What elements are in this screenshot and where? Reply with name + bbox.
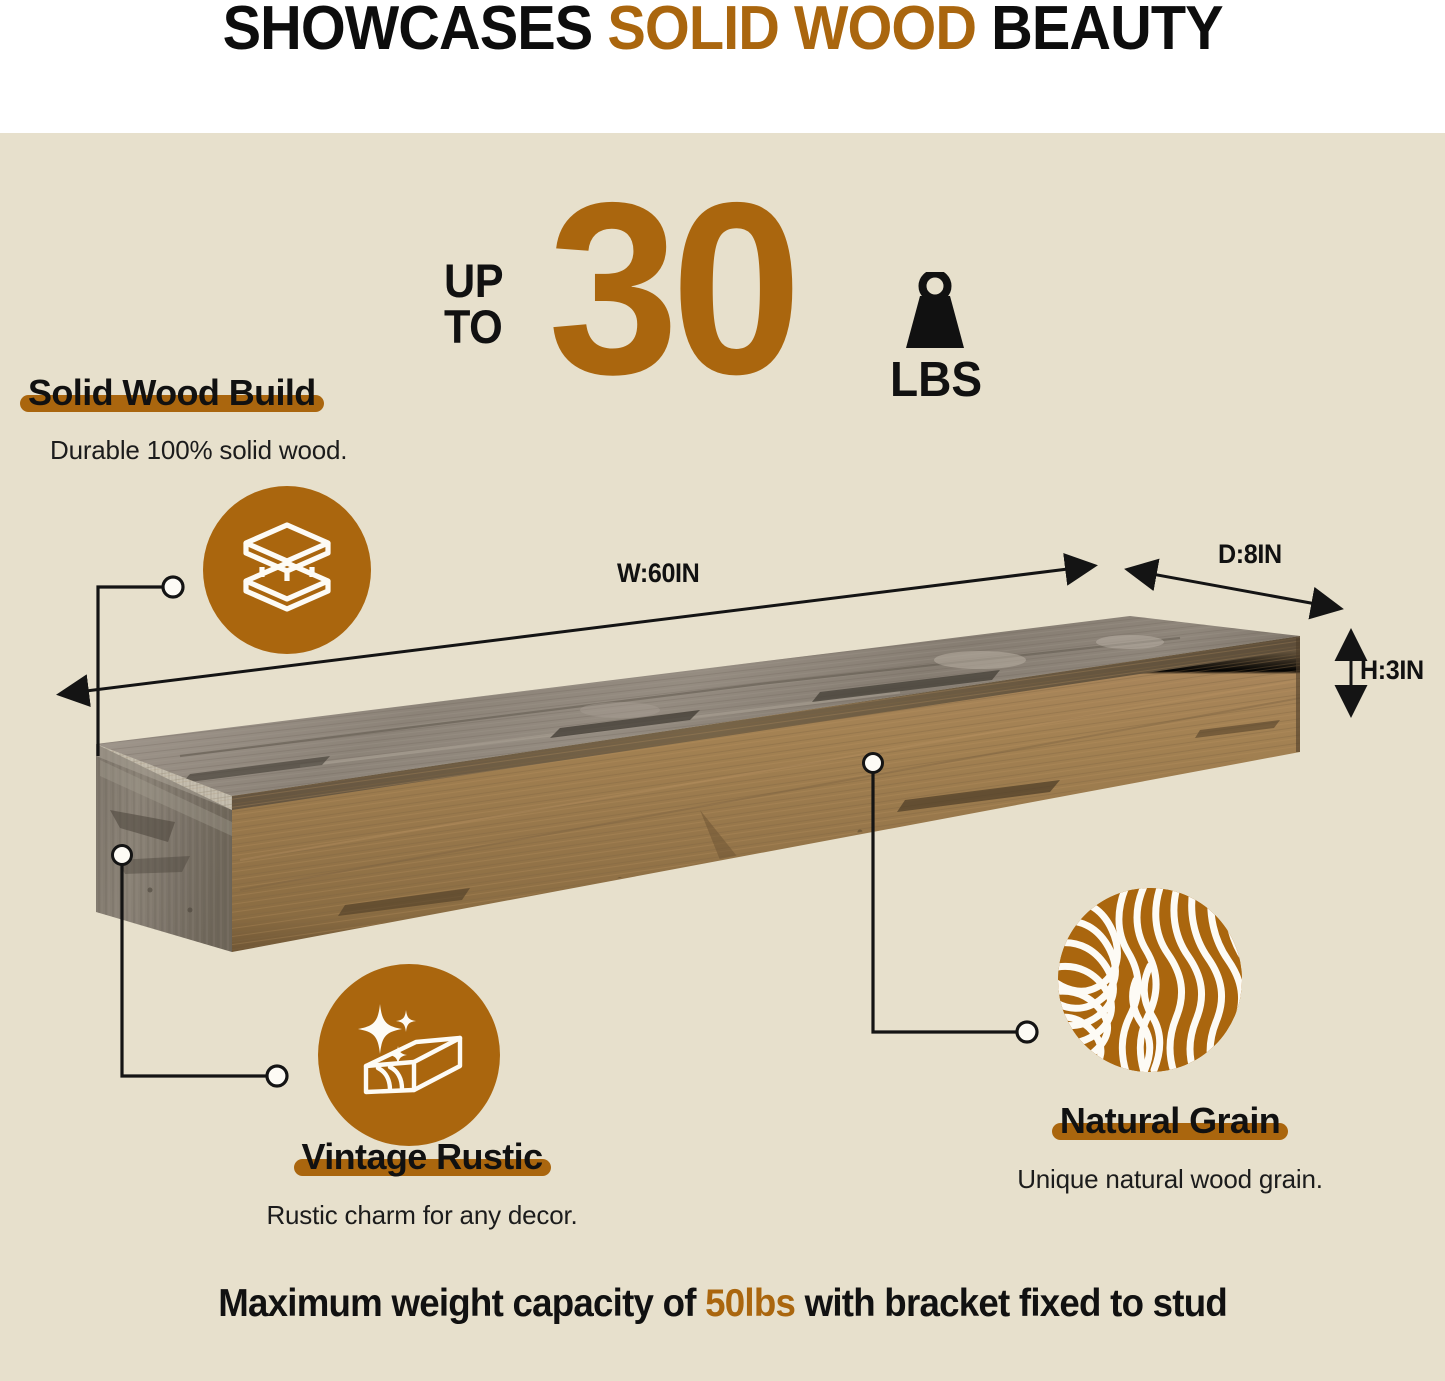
feature-subtitle: Durable 100% solid wood. <box>50 435 347 466</box>
wood-grain-icon <box>1058 888 1242 1072</box>
feature-title-wrap: Vintage Rustic <box>302 1136 543 1178</box>
weight-icon <box>898 272 972 356</box>
page-title: SHOWCASES SOLID WOOD BEAUTY <box>222 0 1222 61</box>
stacked-layers-icon <box>203 486 371 654</box>
feature-title: Natural Grain <box>1060 1100 1280 1142</box>
footer-caption: Maximum weight capacity of 50lbs with br… <box>0 1282 1445 1326</box>
weight-capacity-callout: UP TO 30 LBS <box>430 180 1030 400</box>
feature-subtitle: Rustic charm for any decor. <box>262 1200 582 1231</box>
feature-title-wrap: Solid Wood Build <box>28 372 316 414</box>
feature-title: Solid Wood Build <box>28 372 316 414</box>
dimension-label-height: H:3IN <box>1360 655 1424 686</box>
title-segment-2: BEAUTY <box>976 0 1223 63</box>
feature-title-wrap: Natural Grain <box>1060 1100 1280 1142</box>
feature-subtitle: Unique natural wood grain. <box>1010 1164 1330 1195</box>
capacity-unit-label: LBS <box>890 352 982 408</box>
dimension-label-width: W:60IN <box>617 558 699 589</box>
feature-solid-wood-build: Solid Wood Build Durable 100% solid wood… <box>28 372 347 466</box>
footer-prefix: Maximum weight capacity of <box>218 1282 705 1325</box>
up-label: UP <box>444 258 503 304</box>
title-segment-1: SHOWCASES <box>222 0 607 63</box>
footer-suffix: with bracket fixed to stud <box>795 1282 1227 1325</box>
feature-natural-grain: Natural Grain Unique natural wood grain. <box>1010 1100 1330 1195</box>
feature-title: Vintage Rustic <box>302 1136 543 1178</box>
footer-accent-value: 50lbs <box>705 1282 795 1325</box>
up-to-label: UP TO <box>444 258 503 349</box>
feature-vintage-rustic: Vintage Rustic Rustic charm for any deco… <box>262 1136 582 1231</box>
header-banner: SHOWCASES SOLID WOOD BEAUTY <box>0 0 1445 133</box>
wood-plank-sparkle-icon <box>318 964 500 1146</box>
to-label: TO <box>444 304 503 350</box>
capacity-number: 30 <box>548 166 794 411</box>
title-segment-accent: SOLID WOOD <box>607 0 976 63</box>
dimension-label-depth: D:8IN <box>1218 539 1282 570</box>
